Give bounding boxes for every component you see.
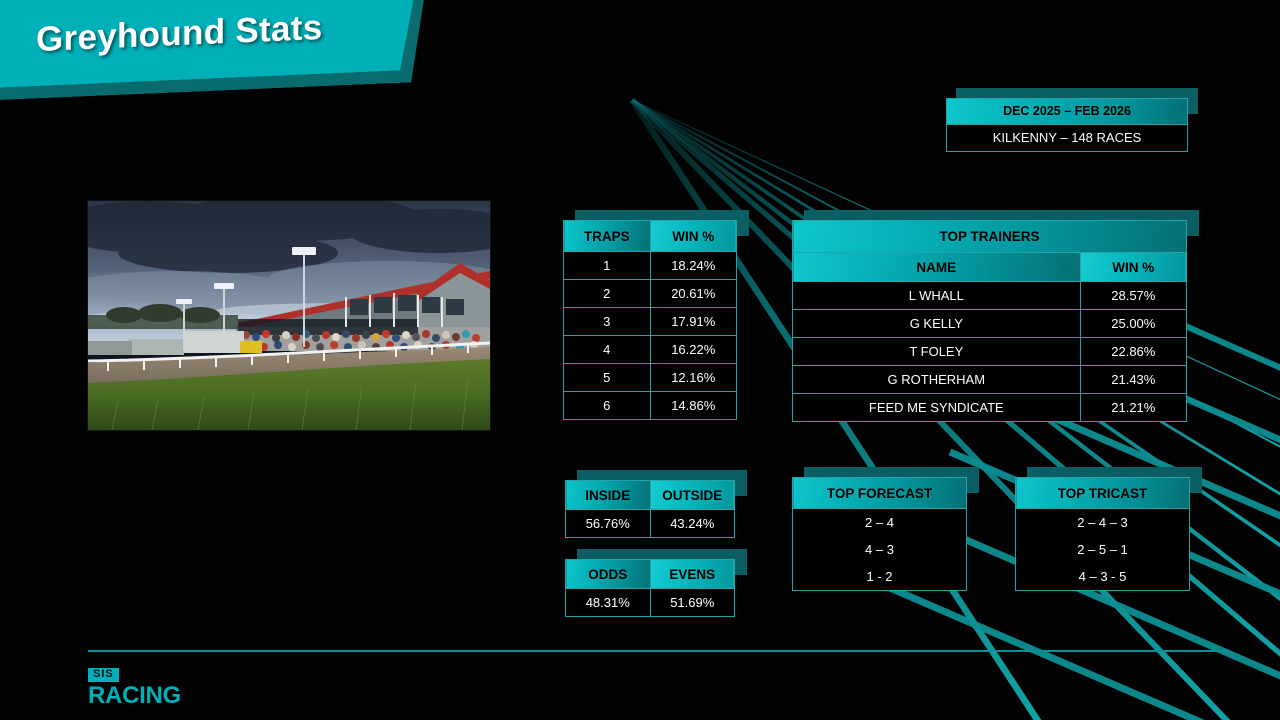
inside-outside-header-row: INSIDE OUTSIDE (566, 481, 735, 510)
table-row: 2 20.61% (564, 280, 737, 308)
inside-value: 56.76% (566, 510, 651, 538)
table-row: 5 12.16% (564, 364, 737, 392)
col-evens: EVENS (650, 560, 735, 589)
trainers-table: TOP TRAINERS NAME WIN % L WHALL 28.57% G… (792, 220, 1187, 422)
trainer-win-pct: 25.00% (1080, 310, 1186, 338)
trainers-panel: TOP TRAINERS NAME WIN % L WHALL 28.57% G… (792, 220, 1187, 422)
trainer-name: G ROTHERHAM (793, 366, 1081, 394)
tricast-combo: 2 – 5 – 1 (1016, 536, 1190, 563)
date-venue-box: DEC 2025 – FEB 2026 KILKENNY – 148 RACES (946, 98, 1188, 152)
inside-outside-table: INSIDE OUTSIDE 56.76% 43.24% (565, 480, 735, 538)
table-row: 1 - 2 (793, 563, 967, 591)
table-row: 6 14.86% (564, 392, 737, 420)
trap-win-pct: 14.86% (650, 392, 737, 420)
table-row: 1 18.24% (564, 252, 737, 280)
trap-number: 5 (564, 364, 651, 392)
trap-number: 2 (564, 280, 651, 308)
racing-wordmark: RACING (88, 684, 181, 708)
table-row: 2 – 4 – 3 (1016, 509, 1190, 537)
table-row: L WHALL 28.57% (793, 282, 1187, 310)
tricast-header-row: TOP TRICAST (1016, 478, 1190, 509)
outside-value: 43.24% (650, 510, 735, 538)
sis-logo-mark: SIS (88, 668, 119, 682)
traps-table: TRAPS WIN % 1 18.24% 2 20.61% 3 17.91% (563, 220, 737, 420)
inside-outside-panel: INSIDE OUTSIDE 56.76% 43.24% (565, 480, 735, 538)
sis-racing-logo: SIS RACING (88, 664, 181, 708)
tricast-combo: 2 – 4 – 3 (1016, 509, 1190, 537)
table-row: 4 – 3 (793, 536, 967, 563)
col-inside: INSIDE (566, 481, 651, 510)
traps-col-traps: TRAPS (564, 221, 651, 252)
traps-panel: TRAPS WIN % 1 18.24% 2 20.61% 3 17.91% (563, 220, 737, 420)
evens-value: 51.69% (650, 589, 735, 617)
odds-value: 48.31% (566, 589, 651, 617)
stadium-photo-illustration (88, 201, 490, 430)
forecast-panel: TOP FORECAST 2 – 4 4 – 3 1 - 2 (792, 477, 967, 591)
table-row: FEED ME SYNDICATE 21.21% (793, 394, 1187, 422)
trainer-win-pct: 21.43% (1080, 366, 1186, 394)
trap-win-pct: 16.22% (650, 336, 737, 364)
trap-win-pct: 20.61% (650, 280, 737, 308)
trap-number: 4 (564, 336, 651, 364)
tricast-title: TOP TRICAST (1016, 478, 1190, 509)
trap-win-pct: 18.24% (650, 252, 737, 280)
trap-number: 3 (564, 308, 651, 336)
trap-win-pct: 17.91% (650, 308, 737, 336)
odds-evens-table: ODDS EVENS 48.31% 51.69% (565, 559, 735, 617)
trap-number: 6 (564, 392, 651, 420)
table-row: T FOLEY 22.86% (793, 338, 1187, 366)
trap-number: 1 (564, 252, 651, 280)
trainer-win-pct: 28.57% (1080, 282, 1186, 310)
odds-evens-panel: ODDS EVENS 48.31% 51.69% (565, 559, 735, 617)
trainers-header-row: NAME WIN % (793, 253, 1187, 282)
forecast-header-row: TOP FORECAST (793, 478, 967, 509)
forecast-combo: 1 - 2 (793, 563, 967, 591)
forecast-title: TOP FORECAST (793, 478, 967, 509)
table-row: G KELLY 25.00% (793, 310, 1187, 338)
trainer-win-pct: 21.21% (1080, 394, 1186, 422)
date-venue-panel: DEC 2025 – FEB 2026 KILKENNY – 148 RACES (946, 98, 1188, 152)
table-row: 3 17.91% (564, 308, 737, 336)
col-odds: ODDS (566, 560, 651, 589)
trainer-win-pct: 22.86% (1080, 338, 1186, 366)
forecast-table: TOP FORECAST 2 – 4 4 – 3 1 - 2 (792, 477, 967, 591)
tricast-panel: TOP TRICAST 2 – 4 – 3 2 – 5 – 1 4 – 3 - … (1015, 477, 1190, 591)
trainers-col-win: WIN % (1080, 253, 1186, 282)
slide-canvas: Greyhound Stats DEC 2025 – FEB 2026 KILK… (0, 0, 1280, 720)
trainers-col-name: NAME (793, 253, 1081, 282)
stadium-photo (87, 200, 491, 431)
odds-evens-header-row: ODDS EVENS (566, 560, 735, 589)
venue-races-label: KILKENNY – 148 RACES (947, 125, 1187, 151)
traps-header-row: TRAPS WIN % (564, 221, 737, 252)
trainer-name: G KELLY (793, 310, 1081, 338)
table-row: 48.31% 51.69% (566, 589, 735, 617)
table-row: 2 – 4 (793, 509, 967, 537)
table-row: 56.76% 43.24% (566, 510, 735, 538)
table-row: 4 16.22% (564, 336, 737, 364)
forecast-combo: 2 – 4 (793, 509, 967, 537)
trainer-name: L WHALL (793, 282, 1081, 310)
trainer-name: FEED ME SYNDICATE (793, 394, 1081, 422)
table-row: 2 – 5 – 1 (1016, 536, 1190, 563)
traps-col-win: WIN % (650, 221, 737, 252)
col-outside: OUTSIDE (650, 481, 735, 510)
date-range-label: DEC 2025 – FEB 2026 (947, 99, 1187, 125)
trap-win-pct: 12.16% (650, 364, 737, 392)
tricast-table: TOP TRICAST 2 – 4 – 3 2 – 5 – 1 4 – 3 - … (1015, 477, 1190, 591)
table-row: G ROTHERHAM 21.43% (793, 366, 1187, 394)
footer-divider (88, 650, 1230, 652)
trainers-title-row: TOP TRAINERS (793, 221, 1187, 253)
tricast-combo: 4 – 3 - 5 (1016, 563, 1190, 591)
trainers-title: TOP TRAINERS (793, 221, 1187, 253)
forecast-combo: 4 – 3 (793, 536, 967, 563)
trainer-name: T FOLEY (793, 338, 1081, 366)
table-row: 4 – 3 - 5 (1016, 563, 1190, 591)
